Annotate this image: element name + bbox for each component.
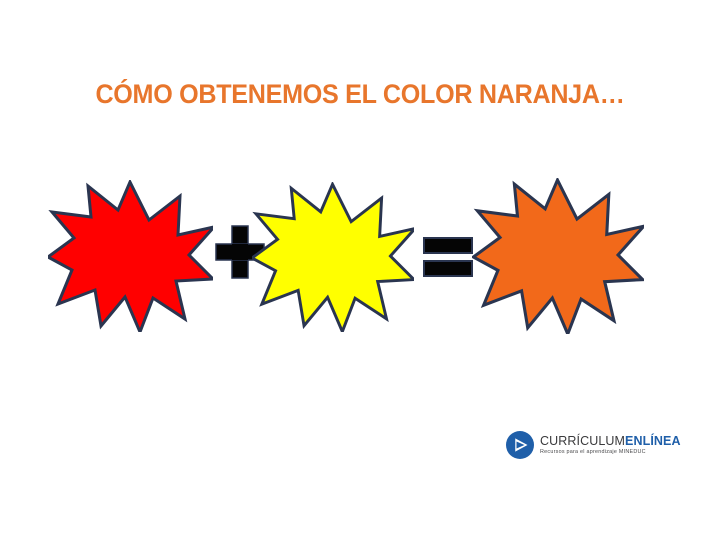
slide-canvas: CÓMO OBTENEMOS EL COLOR NARANJA… [0,0,720,540]
logo-word-main: CURRÍCULUM [540,434,625,448]
logo-text-block: CURRÍCULUMENLÍNEA Recursos para el apren… [540,434,681,455]
logo-tagline: Recursos para el aprendizaje MINEDUC [540,450,681,456]
starburst-red [48,180,213,332]
page-title: CÓMO OBTENEMOS EL COLOR NARANJA… [25,80,695,110]
starburst-yellow [252,182,414,332]
curriculum-en-linea-logo: CURRÍCULUMENLÍNEA Recursos para el apren… [505,427,655,463]
starburst-orange [472,178,644,334]
equals-operator [420,226,476,286]
logo-wordmark: CURRÍCULUMENLÍNEA [540,435,681,448]
logo-word-accent: ENLÍNEA [625,434,681,448]
play-circle-icon [505,430,535,460]
color-mixing-equation [30,170,690,340]
